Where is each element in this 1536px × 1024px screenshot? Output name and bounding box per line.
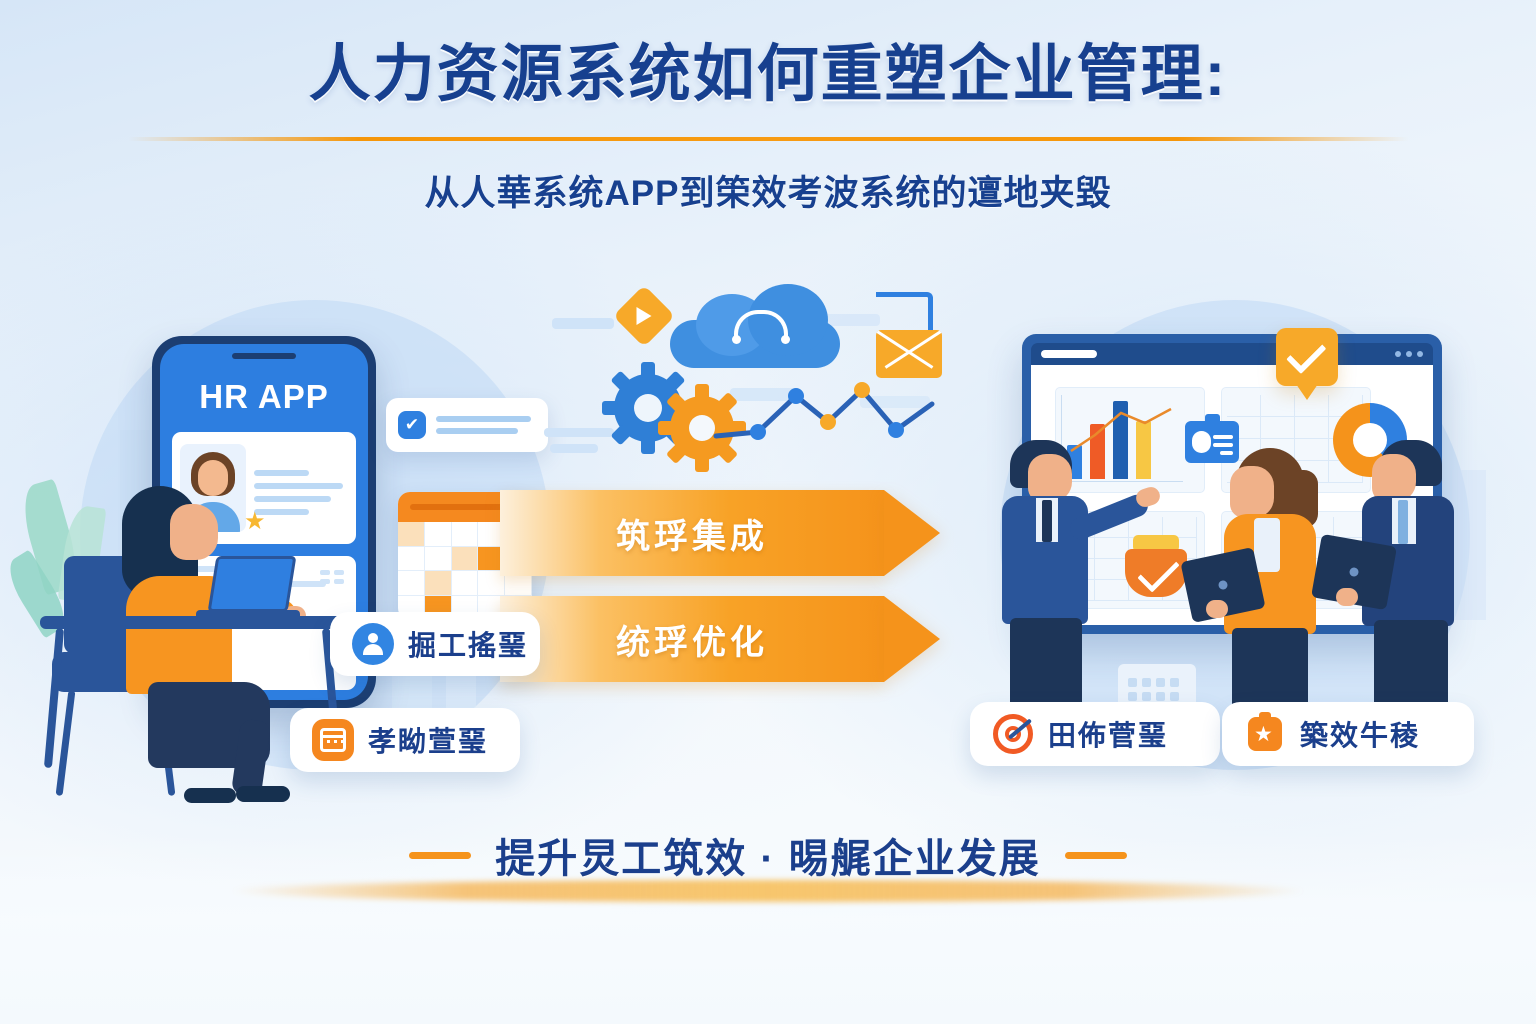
footer-tagline-row: 提升炅工筑效 · 晹艉企业发展 [0, 826, 1536, 884]
window-controls[interactable] [1395, 351, 1423, 357]
title-divider [0, 127, 1536, 149]
header: 人力资源系统如何重塑企业管理: 从人華系统APP到筞效考波系统的邅地夹毀 [0, 42, 1536, 216]
process-arrow-integration: 筑琈集成 [500, 490, 940, 576]
check-icon: ✔ [398, 411, 426, 439]
feature-pill-attendance-management[interactable]: 孝眑萱琧 [290, 708, 520, 772]
award-badge-icon: ★ [1244, 713, 1286, 755]
footer-tagline: 提升炅工筑效 · 晹艉企业发展 [495, 826, 1041, 884]
process-arrow-optimization: 统琈优化 [500, 596, 940, 682]
integration-icon-cluster [560, 278, 980, 478]
feature-pill-goal-management[interactable]: 田佈菅琧 [970, 702, 1220, 766]
envelope-icon [876, 330, 942, 378]
arrow-label-1: 筑琈集成 [616, 509, 768, 558]
feature-pill-performance-review[interactable]: ★ 築效牛稜 [1222, 702, 1474, 766]
browser-toolbar [1031, 343, 1433, 365]
shield-check-icon [1125, 535, 1187, 597]
laptop [196, 556, 296, 628]
grid-dots-icon [320, 570, 344, 584]
approval-callout [1276, 328, 1338, 386]
feature-pill-label-3: 田佈菅琧 [1048, 714, 1168, 754]
feature-pill-label-2: 孝眑萱琧 [368, 720, 488, 760]
notification-text-lines [436, 416, 536, 434]
dash-right [1065, 852, 1127, 859]
address-bar[interactable] [1041, 350, 1097, 358]
app-name-label: HR APP [160, 378, 368, 416]
bracket-decoration [876, 292, 933, 331]
notification-card: ✔ [386, 398, 548, 452]
footer-swoosh [230, 880, 1306, 902]
play-diamond-icon [613, 285, 675, 347]
user-icon [352, 623, 394, 665]
calendar-icon [312, 719, 354, 761]
feature-pill-employee-management[interactable]: 掘工搖琧 [330, 612, 540, 676]
target-icon [992, 713, 1034, 755]
line-chart-icon [710, 374, 970, 460]
checkmark-icon [1286, 333, 1326, 373]
page-title: 人力资源系统如何重塑企业管理: [0, 42, 1536, 109]
feature-pill-label-1: 掘工搖琧 [408, 624, 528, 664]
dash-left [409, 852, 471, 859]
feature-pill-label-4: 築效牛稜 [1300, 714, 1420, 754]
page-subtitle: 从人華系统APP到筞效考波系统的邅地夹毀 [0, 165, 1536, 216]
infographic-canvas: 人力资源系统如何重塑企业管理: 从人華系统APP到筞效考波系统的邅地夹毀 HR … [0, 0, 1536, 1024]
phone-notch [232, 353, 296, 359]
arrow-label-2: 统琈优化 [616, 615, 768, 664]
